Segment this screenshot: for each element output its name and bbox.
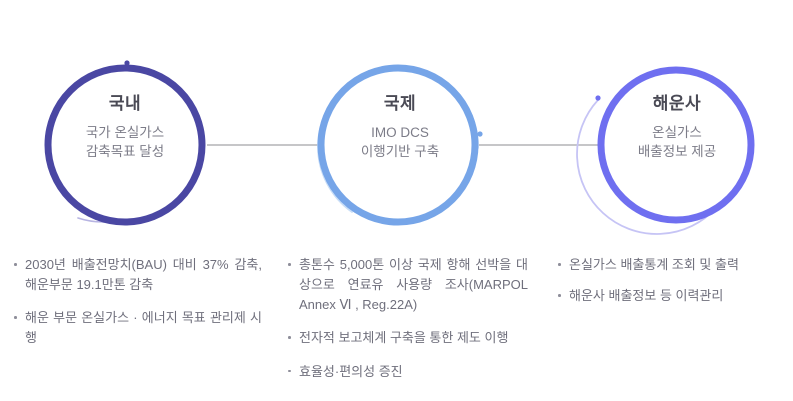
bullet-item: 해운사 배출정보 등 이력관리	[558, 286, 793, 306]
bullet-item: 총톤수 5,000톤 이상 국제 항해 선박을 대상으로 연료유 사용량 조사(…	[288, 255, 528, 315]
flow-diagram-graphic	[0, 0, 793, 250]
node-shipping-endpoint-dot	[595, 95, 600, 100]
diagram-canvas: 국내 국가 온실가스 감축목표 달성 국제 IMO DCS 이행기반 구축 해운…	[0, 0, 793, 401]
node-international-ring	[321, 68, 475, 222]
node-international[interactable]	[318, 67, 483, 222]
node-domestic-ring	[48, 68, 202, 222]
node-domestic-endpoint-dot	[124, 60, 129, 65]
bullet-item: 해운 부문 온실가스 · 에너지 목표 관리제 시행	[14, 308, 262, 348]
node-shipping-company[interactable]	[577, 70, 751, 234]
bullet-column-shipping: 온실가스 배출통계 조회 및 출력 해운사 배출정보 등 이력관리	[558, 255, 793, 317]
node-domestic[interactable]	[48, 60, 202, 222]
bullet-column-domestic: 2030년 배출전망치(BAU) 대비 37% 감축, 해운부문 19.1만톤 …	[14, 255, 262, 349]
bullet-item: 2030년 배출전망치(BAU) 대비 37% 감축, 해운부문 19.1만톤 …	[14, 255, 262, 295]
bullet-item: 효율성·편의성 증진	[288, 362, 528, 382]
bullet-item: 온실가스 배출통계 조회 및 출력	[558, 255, 793, 275]
bullet-column-international: 총톤수 5,000톤 이상 국제 항해 선박을 대상으로 연료유 사용량 조사(…	[288, 255, 528, 382]
node-international-endpoint-dot	[477, 131, 482, 136]
bullet-item: 전자적 보고체계 구축을 통한 제도 이행	[288, 328, 528, 348]
node-shipping-ring	[601, 70, 751, 220]
